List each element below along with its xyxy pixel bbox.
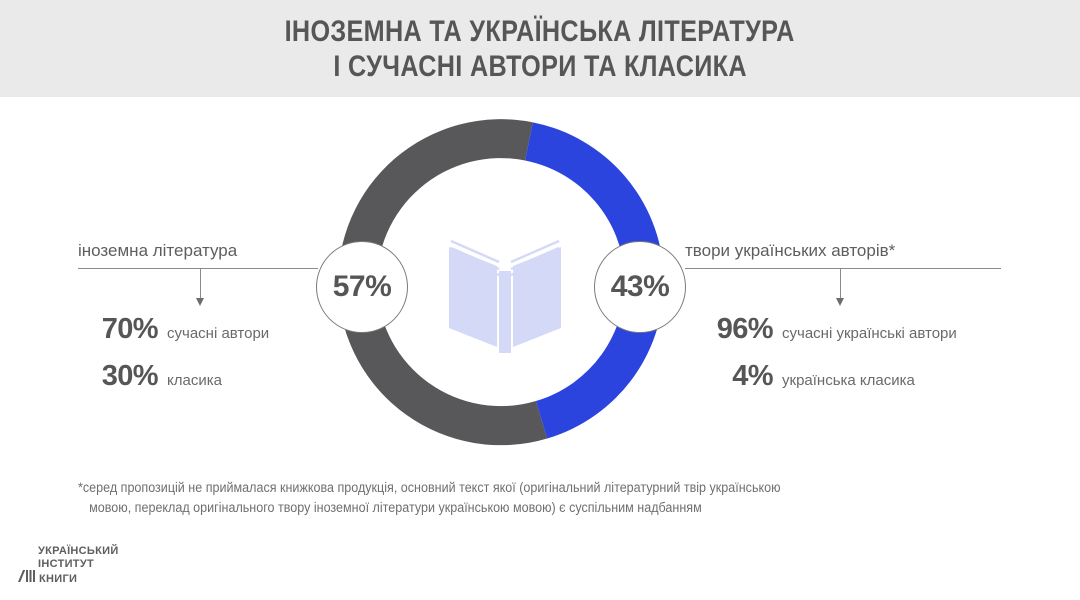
right-stat-row-2: 4% українська класика: [685, 360, 1001, 393]
left-panel-arrow-icon: [78, 269, 318, 311]
footnote-line-2: мовою, переклад оригінального твору іноз…: [78, 498, 975, 518]
header-band: ІНОЗЕМНА ТА УКРАЇНСЬКА ЛІТЕРАТУРА І СУЧА…: [0, 0, 1080, 97]
footnote-line-1: *серед пропозицій не приймалася книжкова…: [78, 478, 975, 498]
percent-bubble-foreign: 57%: [316, 241, 408, 333]
page-title-line-2: І СУЧАСНІ АВТОРИ ТА КЛАСИКА: [333, 49, 747, 84]
right-stat-1-label: сучасні українські автори: [782, 325, 957, 342]
left-stat-1-label: сучасні автори: [167, 325, 269, 342]
logo-line-3: КНИГИ: [39, 573, 77, 586]
page-title-line-1: ІНОЗЕМНА ТА УКРАЇНСЬКА ЛІТЕРАТУРА: [285, 14, 795, 49]
left-stat-2-percent: 30%: [78, 360, 158, 393]
right-panel-heading: твори українських авторів*: [685, 240, 1001, 268]
left-stat-1-percent: 70%: [78, 313, 158, 346]
right-stat-row-1: 96% сучасні українські автори: [685, 313, 1001, 346]
left-panel: іноземна література 70% сучасні автори 3…: [78, 240, 318, 393]
logo-line-2: ІНСТИТУТ: [18, 558, 119, 571]
right-panel-arrow-icon: [685, 269, 1001, 311]
right-stat-1-percent: 96%: [685, 313, 773, 346]
logo-line-3-row: КНИГИ: [18, 570, 119, 586]
footnote: *серед пропозицій не приймалася книжкова…: [78, 478, 975, 518]
logo-line-1: УКРАЇНСЬКИЙ: [18, 545, 119, 558]
right-stat-2-label: українська класика: [782, 372, 915, 389]
right-panel: твори українських авторів* 96% сучасні у…: [685, 240, 1001, 393]
right-stat-2-percent: 4%: [685, 360, 773, 393]
left-panel-heading: іноземна література: [78, 240, 318, 268]
left-stat-row-2: 30% класика: [78, 360, 318, 393]
percent-bubble-ukrainian: 43%: [594, 241, 686, 333]
left-stat-2-label: класика: [167, 372, 222, 389]
logo: УКРАЇНСЬКИЙ ІНСТИТУТ КНИГИ: [18, 545, 119, 586]
left-stat-row-1: 70% сучасні автори: [78, 313, 318, 346]
open-book-icon: [445, 225, 565, 355]
logo-bars-icon: [18, 570, 37, 586]
